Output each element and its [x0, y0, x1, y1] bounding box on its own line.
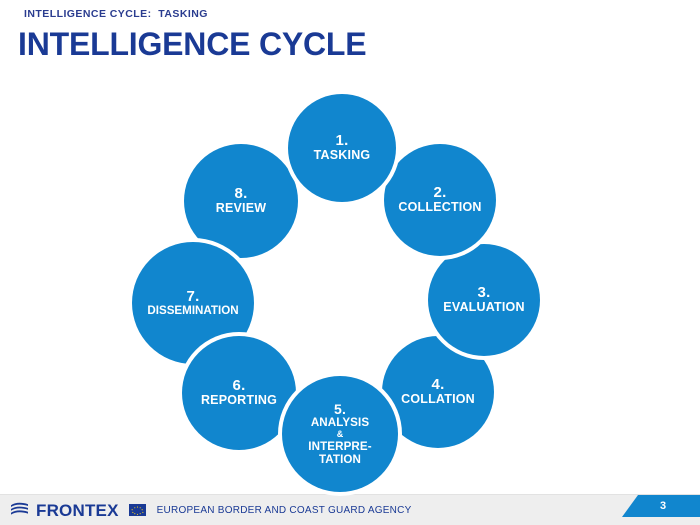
page-number: 3: [656, 501, 666, 512]
cycle-node-label: COLLATION: [401, 393, 475, 407]
cycle-node-label: ANALYSIS: [311, 417, 369, 430]
cycle-node-number: 8.: [235, 186, 248, 202]
cycle-node-collection[interactable]: 2. COLLECTION: [384, 144, 496, 256]
cycle-node-number: 4.: [432, 377, 445, 393]
page-number-tab: 3: [622, 495, 700, 517]
cycle-node-label: DISSEMINATION: [147, 305, 238, 318]
cycle-node-number: 7.: [187, 289, 200, 305]
frontex-wave-icon: [10, 502, 29, 518]
cycle-node-number: 5.: [334, 402, 346, 417]
slide: INTELLIGENCE CYCLE: TASKING INTELLIGENCE…: [0, 0, 700, 525]
eu-flag-icon: [129, 504, 146, 516]
cycle-node-label: REVIEW: [216, 202, 267, 216]
agency-name: EUROPEAN BORDER AND COAST GUARD AGENCY: [157, 505, 412, 516]
cycle-node-label-line2: INTERPRE-: [308, 441, 371, 454]
cycle-node-reporting[interactable]: 6. REPORTING: [182, 336, 296, 450]
cycle-node-review[interactable]: 8. REVIEW: [184, 144, 298, 258]
intelligence-cycle-diagram: 1. TASKING 2. COLLECTION 3. EVALUATION 4…: [0, 78, 700, 488]
frontex-brand: FRONTEX EUROPEAN BORDER AND COAST GUARD …: [10, 501, 412, 519]
cycle-node-evaluation[interactable]: 3. EVALUATION: [428, 244, 540, 356]
cycle-node-label: REPORTING: [201, 394, 277, 408]
cycle-node-label-line3: TATION: [319, 454, 361, 467]
cycle-node-label: TASKING: [314, 149, 371, 163]
cycle-node-number: 2.: [434, 185, 447, 201]
page-title: INTELLIGENCE CYCLE: [18, 26, 366, 63]
slide-eyebrow: INTELLIGENCE CYCLE: TASKING: [24, 8, 208, 20]
cycle-node-label: COLLECTION: [398, 201, 481, 215]
cycle-node-number: 6.: [233, 378, 246, 394]
cycle-node-tasking[interactable]: 1. TASKING: [288, 94, 396, 202]
cycle-node-label: EVALUATION: [443, 301, 524, 315]
cycle-node-number: 1.: [336, 133, 349, 149]
cycle-node-analysis-interpretation[interactable]: 5. ANALYSIS & INTERPRE- TATION: [282, 376, 398, 492]
cycle-node-number: 3.: [478, 285, 491, 301]
frontex-wordmark: FRONTEX: [36, 502, 119, 519]
slide-footer: FRONTEX EUROPEAN BORDER AND COAST GUARD …: [0, 494, 700, 525]
